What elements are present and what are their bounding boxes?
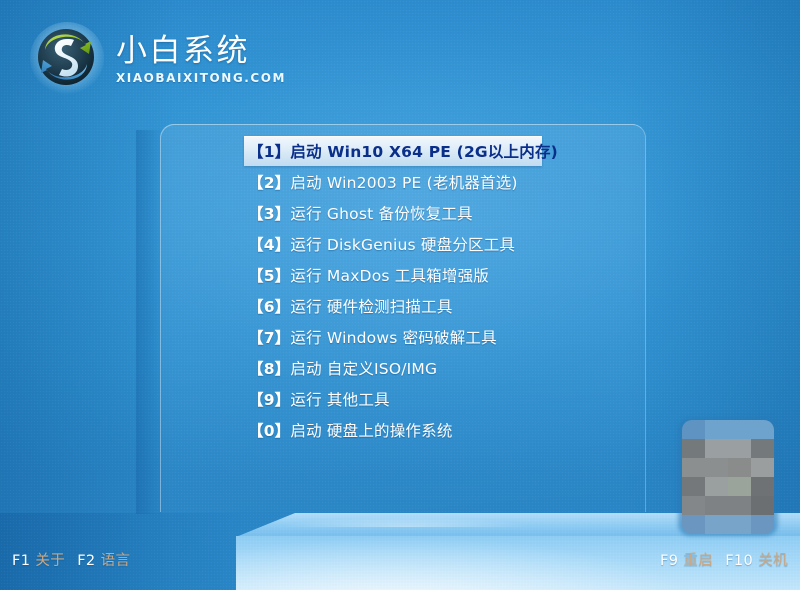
boot-menu-screen: 小白系统 XIAOBAIXITONG.COM 【1】启动 Win10 X64 P… (0, 0, 800, 590)
mosaic-tile (705, 477, 728, 496)
fkey-label: 关机 (758, 553, 788, 569)
mosaic-tile (705, 439, 728, 458)
mosaic-tile (705, 420, 728, 439)
boot-menu-list: 【1】启动 Win10 X64 PE (2G以上内存)【2】启动 Win2003… (244, 136, 544, 445)
mosaic-tile (682, 496, 705, 515)
boot-menu-item-2[interactable]: 【2】启动 Win2003 PE (老机器首选) (244, 167, 544, 197)
boot-menu-item-4[interactable]: 【4】运行 DiskGenius 硬盘分区工具 (244, 229, 544, 259)
boot-menu-item-label: 运行 DiskGenius 硬盘分区工具 (290, 233, 515, 255)
mosaic-censored-region (676, 414, 780, 538)
boot-menu-item-1[interactable]: 【1】启动 Win10 X64 PE (2G以上内存) (244, 136, 542, 166)
mosaic-tile (751, 458, 774, 477)
boot-menu-item-label: 启动 自定义ISO/IMG (290, 357, 437, 379)
mosaic-tile (682, 458, 705, 477)
mosaic-tile (751, 439, 774, 458)
fkey-f9[interactable]: F9重启 (660, 549, 713, 570)
mosaic-tile (682, 439, 705, 458)
mosaic-tile (728, 496, 751, 515)
mosaic-tile (705, 496, 728, 515)
brand-logo: 小白系统 XIAOBAIXITONG.COM (26, 18, 286, 98)
fkey-label: 语言 (101, 553, 131, 569)
fkey-f1[interactable]: F1关于 (12, 549, 65, 570)
boot-menu-item-label: 运行 MaxDos 工具箱增强版 (290, 264, 489, 286)
mosaic-tile (705, 515, 728, 534)
mosaic-tile (728, 477, 751, 496)
mosaic-tile (705, 458, 728, 477)
boot-menu-item-number: 【7】 (248, 326, 290, 348)
boot-menu-item-number: 【3】 (248, 202, 290, 224)
mosaic-tile (751, 496, 774, 515)
boot-menu-item-label: 运行 硬件检测扫描工具 (290, 295, 452, 317)
fkey-label: 关于 (35, 553, 65, 569)
boot-menu-item-6[interactable]: 【6】运行 硬件检测扫描工具 (244, 291, 544, 321)
recycle-circle-logo-icon (26, 18, 110, 98)
boot-menu-item-label: 启动 Win2003 PE (老机器首选) (290, 171, 517, 193)
footer-fkeys-left: F1关于F2语言 (12, 549, 142, 570)
boot-menu-item-number: 【0】 (248, 419, 290, 441)
mosaic-tile (751, 477, 774, 496)
boot-menu-item-9[interactable]: 【9】运行 其他工具 (244, 384, 544, 414)
brand-subtitle: XIAOBAIXITONG.COM (116, 71, 286, 85)
boot-menu-item-label: 运行 其他工具 (290, 388, 389, 410)
mosaic-tiles (682, 420, 774, 534)
boot-menu-item-label: 启动 硬盘上的操作系统 (290, 419, 452, 441)
mosaic-tile (728, 515, 751, 534)
boot-menu-item-3[interactable]: 【3】运行 Ghost 备份恢复工具 (244, 198, 544, 228)
fkey-f10[interactable]: F10关机 (725, 549, 788, 570)
mosaic-tile (728, 439, 751, 458)
fkey-label: 重启 (683, 553, 713, 569)
mosaic-tile (751, 420, 774, 439)
fkey-key: F9 (660, 553, 678, 569)
boot-menu-item-label: 运行 Ghost 备份恢复工具 (290, 202, 472, 224)
brand-logo-text: 小白系统 XIAOBAIXITONG.COM (116, 32, 286, 85)
mosaic-tile (682, 420, 705, 439)
mosaic-tile (682, 477, 705, 496)
boot-menu-item-label: 启动 Win10 X64 PE (2G以上内存) (290, 140, 558, 162)
boot-menu-item-number: 【6】 (248, 295, 290, 317)
mosaic-tile (751, 515, 774, 534)
boot-menu-item-label: 运行 Windows 密码破解工具 (290, 326, 496, 348)
fkey-key: F10 (725, 553, 753, 569)
boot-menu-item-5[interactable]: 【5】运行 MaxDos 工具箱增强版 (244, 260, 544, 290)
boot-menu-item-number: 【2】 (248, 171, 290, 193)
fkey-f2[interactable]: F2语言 (77, 549, 130, 570)
boot-menu-item-number: 【4】 (248, 233, 290, 255)
fkey-key: F1 (12, 553, 30, 569)
boot-menu-item-number: 【8】 (248, 357, 290, 379)
mosaic-tile (728, 458, 751, 477)
boot-menu-item-10[interactable]: 【0】启动 硬盘上的操作系统 (244, 415, 544, 445)
boot-menu-item-number: 【5】 (248, 264, 290, 286)
boot-menu-item-7[interactable]: 【7】运行 Windows 密码破解工具 (244, 322, 544, 352)
boot-menu-item-number: 【1】 (248, 140, 290, 162)
fkey-key: F2 (77, 553, 95, 569)
boot-menu-item-8[interactable]: 【8】启动 自定义ISO/IMG (244, 353, 544, 383)
boot-menu-item-number: 【9】 (248, 388, 290, 410)
footer-fkeys-right: F9重启F10关机 (660, 549, 788, 570)
mosaic-tile (682, 515, 705, 534)
brand-title: 小白系统 (116, 34, 286, 68)
mosaic-tile (728, 420, 751, 439)
